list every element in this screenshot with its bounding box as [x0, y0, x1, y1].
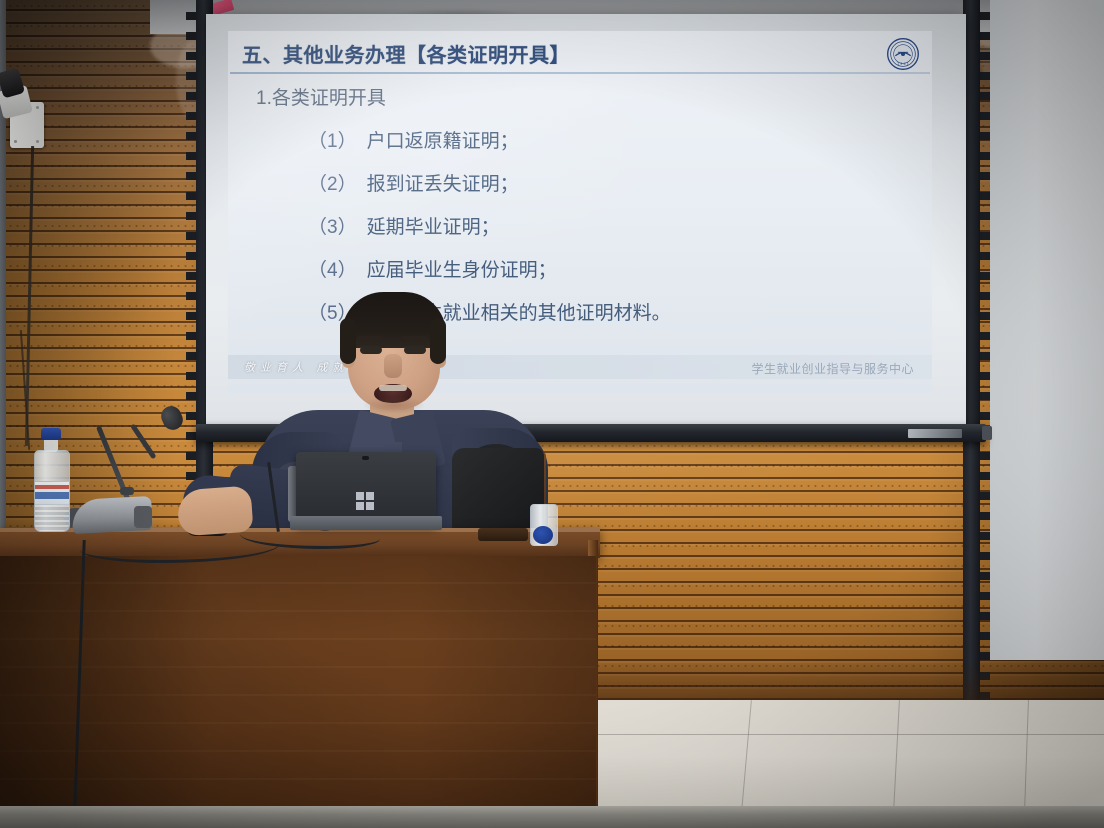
slide-title-rule	[230, 72, 930, 74]
bullet-text: 延期毕业证明；	[367, 212, 500, 239]
person-eye-left	[360, 346, 382, 354]
slide-bullet-item: （3） 延期毕业证明；	[308, 212, 671, 239]
bottle-label-red-stripe	[35, 485, 69, 489]
microsoft-logo-icon	[356, 492, 374, 510]
bullet-text: 应届毕业生身份证明；	[367, 255, 557, 282]
person-brow-left	[358, 336, 384, 341]
person-teeth	[379, 385, 407, 391]
bullet-text: 户口返原籍证明；	[367, 126, 519, 153]
person-hair-side-left	[340, 318, 356, 364]
smartphone[interactable]	[478, 528, 528, 541]
screen-brand-label	[908, 429, 962, 438]
surface-laptop[interactable]	[296, 452, 436, 526]
microphone-base-rear	[134, 506, 152, 528]
slide-bullet-item: （1） 户口返原籍证明；	[308, 126, 671, 153]
slide-bullet-item: （4） 应届毕业生身份证明；	[308, 255, 671, 282]
bottle-ribs	[35, 505, 69, 531]
laptop-camera-icon	[362, 456, 369, 460]
person-nose	[384, 354, 402, 378]
bullet-text: 报到证丢失证明；	[367, 169, 519, 196]
university-seal-logo: 1 9 4 1	[886, 37, 920, 71]
bullet-number: （4）	[308, 255, 357, 282]
small-bottle-cap-blue	[533, 526, 553, 544]
slide-title: 五、其他业务办理【各类证明开具】	[242, 39, 570, 68]
person-hair-side-right	[430, 318, 446, 364]
right-plain-wall	[990, 0, 1104, 660]
tile-floor	[596, 700, 1104, 812]
bullet-number: （1）	[308, 126, 357, 153]
pillar-notch-right	[980, 0, 990, 700]
wall-base-shadow	[596, 660, 1104, 704]
bottle-label-blue-stripe	[35, 492, 69, 499]
bottle-cap-blue	[41, 428, 61, 440]
podium-shading	[0, 556, 596, 816]
slide-bullet-item: （2） 报到证丢失证明；	[308, 169, 671, 196]
person-eye-right	[404, 346, 426, 354]
bullet-number: （3）	[308, 212, 357, 239]
microphone-collar	[120, 487, 134, 495]
bottle-body	[34, 450, 70, 532]
lecture-hall-scene: 五、其他业务办理【各类证明开具】 1 9 4 1 1.各类证明开具 （1） 户口…	[0, 0, 1104, 828]
person-brow-right	[402, 336, 428, 341]
floor-base-strip	[0, 806, 1104, 828]
person-chin-shadow	[362, 396, 426, 414]
slide-subtitle: 1.各类证明开具	[256, 83, 386, 110]
svg-text:1 9 4 1: 1 9 4 1	[897, 62, 909, 66]
bullet-number: （2）	[308, 169, 357, 196]
screen-bar-end-cap	[982, 426, 992, 440]
slide-footer-department: 学生就业创业指导与服务中心	[751, 360, 914, 377]
